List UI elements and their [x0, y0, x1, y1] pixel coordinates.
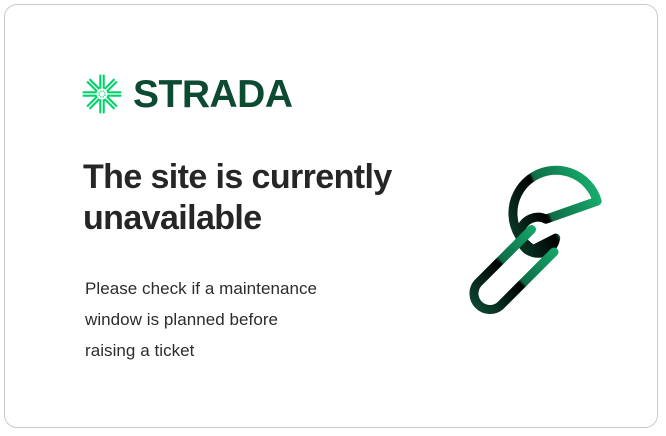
message-body: Please check if a maintenance window is … — [85, 273, 405, 366]
brand-wordmark: STRADA — [133, 75, 293, 114]
brand-logo: STRADA — [81, 73, 293, 115]
strada-mark — [81, 73, 123, 115]
asterisk-star-icon — [81, 73, 123, 115]
page-title: The site is currently unavailable — [83, 157, 423, 240]
message-body-line-3: raising a ticket — [85, 335, 405, 366]
message-body-line-1: Please check if a maintenance — [85, 273, 405, 304]
maintenance-illustration — [457, 153, 625, 321]
message-body-line-2: window is planned before — [85, 304, 405, 335]
wrench-icon — [457, 153, 625, 321]
status-card: STRADA The site is currently unavailable… — [4, 4, 658, 428]
page-root: STRADA The site is currently unavailable… — [0, 0, 666, 436]
